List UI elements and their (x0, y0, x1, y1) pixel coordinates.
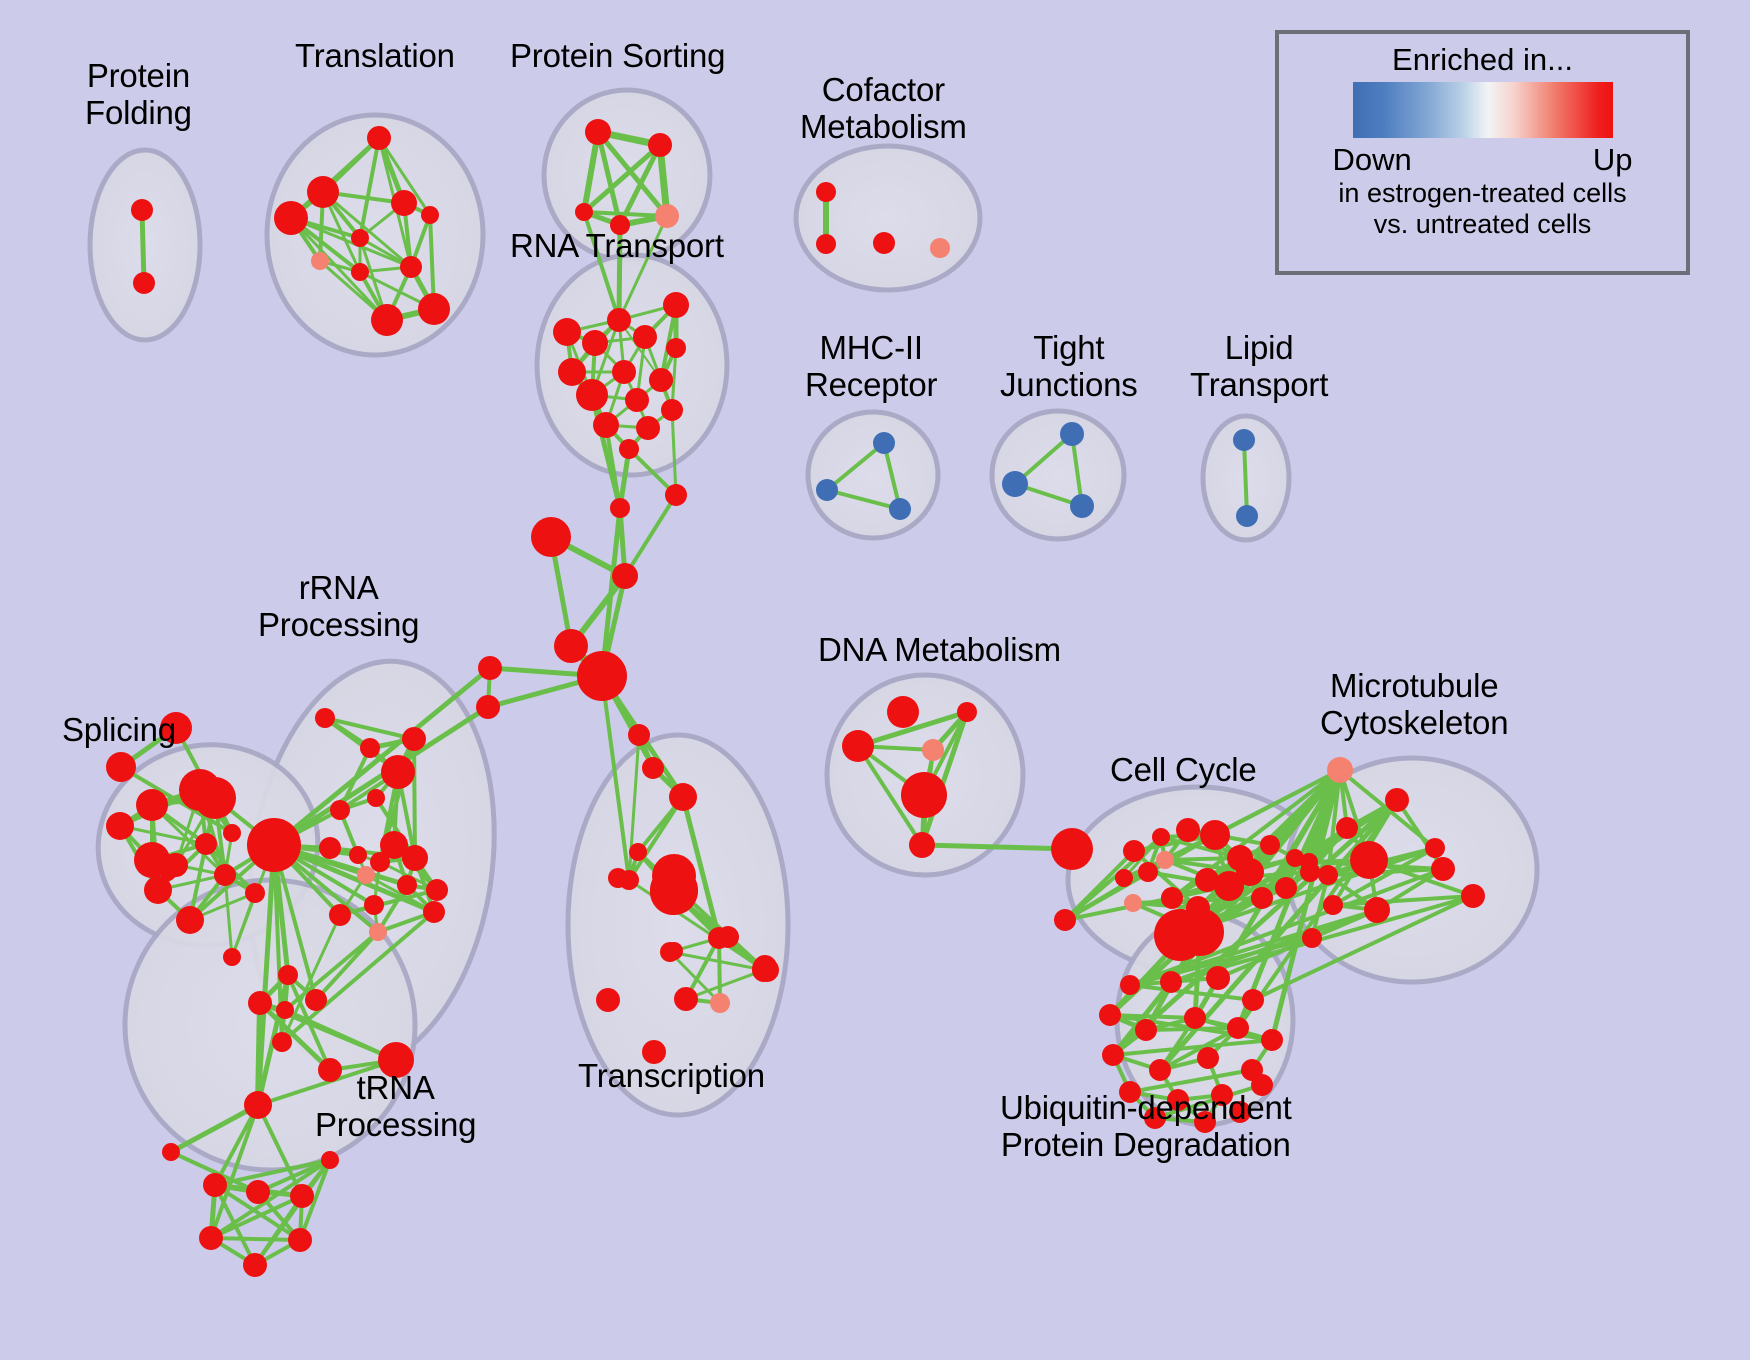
cluster-label-translation: Translation (295, 38, 455, 75)
legend-up-label: Up (1593, 142, 1633, 178)
gene-set-node[interactable] (1323, 895, 1343, 915)
gene-set-node[interactable] (901, 772, 947, 818)
gene-set-node[interactable] (134, 842, 170, 878)
gene-set-node[interactable] (1236, 505, 1258, 527)
gene-set-node[interactable] (889, 498, 911, 520)
gene-set-node[interactable] (1051, 828, 1093, 870)
gene-set-node[interactable] (1070, 494, 1094, 518)
gene-set-node[interactable] (1176, 818, 1200, 842)
gene-set-node[interactable] (245, 883, 265, 903)
gene-set-node[interactable] (194, 777, 236, 819)
gene-set-node[interactable] (612, 360, 636, 384)
gene-set-node[interactable] (246, 1180, 270, 1204)
gene-set-node[interactable] (842, 730, 874, 762)
gene-set-node[interactable] (628, 724, 650, 746)
cluster-label-trna-processing: tRNA Processing (315, 1070, 476, 1144)
gene-set-node[interactable] (1123, 840, 1145, 862)
gene-set-node[interactable] (1302, 928, 1322, 948)
gene-set-node[interactable] (106, 812, 134, 840)
gene-set-node[interactable] (957, 702, 977, 722)
gene-set-node[interactable] (370, 852, 390, 872)
gene-set-node[interactable] (195, 833, 217, 855)
gene-set-node[interactable] (421, 206, 439, 224)
legend-title: Enriched in... (1392, 42, 1573, 78)
gene-set-node[interactable] (816, 182, 836, 202)
gene-set-node[interactable] (1138, 862, 1158, 882)
gene-set-node[interactable] (582, 330, 608, 356)
gene-set-node[interactable] (321, 1151, 339, 1169)
legend-caption-line-2: vs. untreated cells (1374, 209, 1592, 240)
gene-set-node[interactable] (1176, 908, 1224, 956)
gene-set-node[interactable] (371, 304, 403, 336)
gene-set-node[interactable] (816, 234, 836, 254)
gene-set-node[interactable] (476, 695, 500, 719)
gene-set-node[interactable] (752, 958, 776, 982)
gene-set-node[interactable] (642, 757, 664, 779)
gene-set-node[interactable] (274, 201, 308, 235)
gene-set-node[interactable] (367, 126, 391, 150)
gene-set-node[interactable] (391, 190, 417, 216)
cluster-label-rna-transport: RNA Transport (510, 228, 724, 265)
cluster-label-microtubule-cytoskeleton: Microtubule Cytoskeleton (1320, 668, 1508, 742)
gene-set-node[interactable] (288, 1228, 312, 1252)
cluster-label-tight-junctions: Tight Junctions (1000, 330, 1138, 404)
gene-set-node[interactable] (1152, 828, 1170, 846)
gene-set-node[interactable] (381, 755, 415, 789)
gene-set-node[interactable] (397, 875, 417, 895)
gene-set-node[interactable] (1242, 989, 1264, 1011)
gene-set-node[interactable] (311, 252, 329, 270)
gene-set-node[interactable] (1002, 471, 1028, 497)
gene-set-node[interactable] (203, 1173, 227, 1197)
gene-set-node[interactable] (531, 517, 571, 557)
gene-set-node[interactable] (290, 1184, 314, 1208)
gene-set-node[interactable] (278, 965, 298, 985)
gene-set-node[interactable] (1214, 871, 1244, 901)
gene-set-node[interactable] (244, 1091, 272, 1119)
gene-set-node[interactable] (909, 832, 935, 858)
gene-set-node[interactable] (674, 987, 698, 1011)
gene-set-node[interactable] (930, 238, 950, 258)
gene-set-node[interactable] (248, 991, 272, 1015)
cluster-label-ubiquitin-protein-degradation: Ubiquitin-dependent Protein Degradation (1000, 1090, 1292, 1164)
gene-set-node[interactable] (922, 739, 944, 761)
gene-set-node[interactable] (315, 708, 335, 728)
gene-set-node[interactable] (272, 1032, 292, 1052)
gene-set-node[interactable] (652, 854, 696, 898)
gene-set-node[interactable] (223, 824, 241, 842)
gene-set-node[interactable] (1206, 966, 1230, 990)
gene-set-node[interactable] (607, 308, 631, 332)
gene-set-node[interactable] (608, 868, 628, 888)
gene-set-node[interactable] (887, 696, 919, 728)
gene-set-node[interactable] (816, 479, 838, 501)
cluster-label-rrna-processing: rRNA Processing (258, 570, 419, 644)
gene-set-node[interactable] (1135, 1019, 1157, 1041)
gene-set-node[interactable] (106, 752, 136, 782)
gene-set-node[interactable] (629, 843, 647, 861)
gene-set-node[interactable] (663, 292, 689, 318)
legend-panel: Enriched in... Down Up in estrogen-treat… (1275, 30, 1690, 275)
gene-set-node[interactable] (423, 901, 445, 923)
gene-set-node[interactable] (1336, 817, 1358, 839)
gene-set-node[interactable] (351, 229, 369, 247)
gene-set-node[interactable] (1261, 1029, 1283, 1051)
cluster-label-splicing: Splicing (62, 712, 176, 749)
gene-set-node[interactable] (1184, 1007, 1206, 1029)
gene-set-node[interactable] (426, 879, 448, 901)
gene-set-node[interactable] (1161, 887, 1183, 909)
gene-set-node[interactable] (136, 789, 168, 821)
gene-set-node[interactable] (873, 432, 895, 454)
cluster-label-lipid-transport: Lipid Transport (1190, 330, 1328, 404)
gene-set-node[interactable] (418, 293, 450, 325)
gene-set-node[interactable] (1149, 1059, 1171, 1081)
gene-set-node[interactable] (1251, 887, 1273, 909)
gene-set-node[interactable] (553, 318, 581, 346)
gene-set-node[interactable] (402, 727, 426, 751)
gene-set-node[interactable] (575, 203, 593, 221)
legend-down-label: Down (1333, 142, 1412, 178)
gene-set-node[interactable] (276, 1001, 294, 1019)
gene-set-node[interactable] (610, 498, 630, 518)
gene-set-node[interactable] (369, 923, 387, 941)
gene-set-node[interactable] (402, 845, 428, 871)
gene-set-node[interactable] (305, 989, 327, 1011)
gene-set-node[interactable] (669, 783, 697, 811)
gene-set-node[interactable] (243, 1253, 267, 1277)
gene-set-node[interactable] (1260, 835, 1280, 855)
legend-color-gradient-bar (1353, 82, 1613, 138)
gene-set-node[interactable] (1156, 851, 1174, 869)
gene-set-node[interactable] (1461, 884, 1485, 908)
gene-set-node[interactable] (1327, 757, 1353, 783)
cluster-hull-mhc-ii-receptor (808, 412, 938, 538)
gene-set-node[interactable] (596, 988, 620, 1012)
cluster-label-protein-sorting: Protein Sorting (510, 38, 725, 75)
gene-set-node[interactable] (660, 942, 680, 962)
gene-set-node[interactable] (307, 176, 339, 208)
edge (211, 1238, 300, 1240)
gene-set-node[interactable] (636, 416, 660, 440)
gene-set-node[interactable] (364, 895, 384, 915)
gene-set-node[interactable] (1054, 909, 1076, 931)
gene-set-node[interactable] (649, 368, 673, 392)
gene-set-node[interactable] (349, 846, 367, 864)
gene-set-node[interactable] (247, 818, 301, 872)
cluster-label-dna-metabolism: DNA Metabolism (818, 632, 1061, 669)
gene-set-node[interactable] (1120, 975, 1140, 995)
legend-endpoints: Down Up (1333, 142, 1633, 178)
gene-set-node[interactable] (357, 866, 375, 884)
gene-set-node[interactable] (1385, 788, 1409, 812)
gene-set-node[interactable] (1197, 1047, 1219, 1069)
gene-set-node[interactable] (1102, 1044, 1124, 1066)
gene-set-node[interactable] (223, 948, 241, 966)
gene-set-node[interactable] (400, 256, 422, 278)
figure-canvas: Protein FoldingTranslationProtein Sortin… (0, 0, 1750, 1360)
gene-set-node[interactable] (1060, 422, 1084, 446)
gene-set-node[interactable] (633, 325, 657, 349)
cluster-label-cofactor-metabolism: Cofactor Metabolism (800, 72, 967, 146)
edge (414, 739, 415, 858)
gene-set-node[interactable] (329, 904, 351, 926)
gene-set-node[interactable] (666, 338, 686, 358)
gene-set-node[interactable] (710, 993, 730, 1013)
gene-set-node[interactable] (1160, 971, 1182, 993)
gene-set-node[interactable] (351, 263, 369, 281)
gene-set-node[interactable] (558, 358, 586, 386)
gene-set-node[interactable] (144, 876, 172, 904)
gene-set-node[interactable] (133, 272, 155, 294)
gene-set-node[interactable] (330, 800, 350, 820)
gene-set-node[interactable] (162, 1143, 180, 1161)
gene-set-node[interactable] (708, 927, 730, 949)
gene-set-node[interactable] (1364, 897, 1390, 923)
gene-set-node[interactable] (1318, 865, 1338, 885)
gene-set-node[interactable] (1200, 820, 1230, 850)
cluster-label-mhc-ii-receptor: MHC-II Receptor (805, 330, 937, 404)
cluster-label-cell-cycle: Cell Cycle (1110, 752, 1257, 789)
gene-set-node[interactable] (131, 199, 153, 221)
gene-set-node[interactable] (1300, 853, 1318, 871)
cluster-label-transcription: Transcription (578, 1058, 765, 1095)
gene-set-node[interactable] (648, 133, 672, 157)
gene-set-node[interactable] (1431, 857, 1455, 881)
gene-set-node[interactable] (1275, 877, 1297, 899)
gene-set-node[interactable] (593, 412, 619, 438)
gene-set-node[interactable] (1227, 1017, 1249, 1039)
gene-set-node[interactable] (554, 629, 588, 663)
gene-set-node[interactable] (612, 563, 638, 589)
gene-set-node[interactable] (176, 906, 204, 934)
gene-set-node[interactable] (1425, 838, 1445, 858)
gene-set-node[interactable] (1115, 869, 1133, 887)
gene-set-node[interactable] (214, 864, 236, 886)
gene-set-node[interactable] (360, 738, 380, 758)
gene-set-node[interactable] (873, 232, 895, 254)
gene-set-node[interactable] (585, 119, 611, 145)
gene-set-node[interactable] (1350, 841, 1388, 879)
gene-set-node[interactable] (619, 439, 639, 459)
gene-set-node[interactable] (199, 1226, 223, 1250)
gene-set-node[interactable] (1099, 1004, 1121, 1026)
cluster-label-protein-folding: Protein Folding (85, 58, 192, 132)
gene-set-node[interactable] (478, 656, 502, 680)
edge (602, 508, 620, 676)
gene-set-node[interactable] (367, 789, 385, 807)
gene-set-node[interactable] (1124, 894, 1142, 912)
gene-set-node[interactable] (577, 651, 627, 701)
gene-set-node[interactable] (655, 204, 679, 228)
legend-caption-line-1: in estrogen-treated cells (1338, 178, 1626, 209)
gene-set-node[interactable] (661, 399, 683, 421)
gene-set-node[interactable] (576, 379, 608, 411)
gene-set-node[interactable] (625, 388, 649, 412)
gene-set-node[interactable] (319, 837, 341, 859)
gene-set-node[interactable] (1233, 429, 1255, 451)
gene-set-node[interactable] (665, 484, 687, 506)
edge (625, 495, 676, 576)
